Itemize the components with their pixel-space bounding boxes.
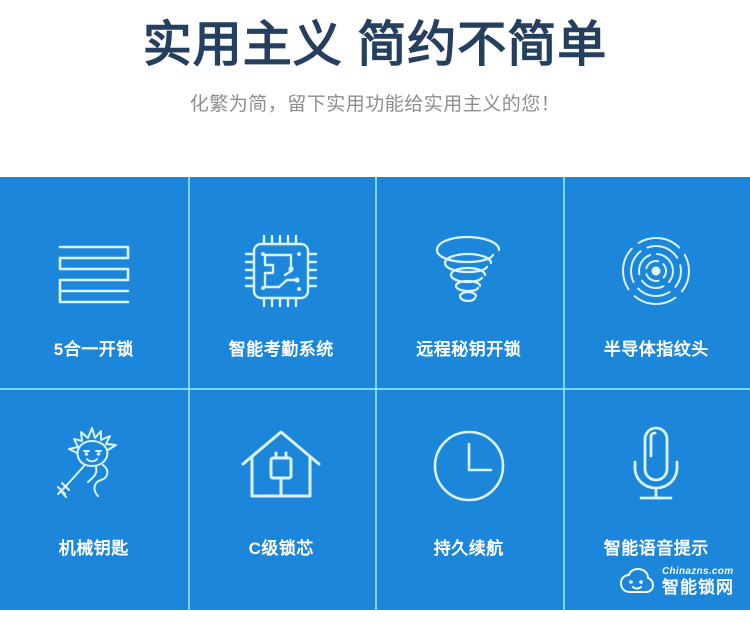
feature-cell-5-in-1-unlock[interactable]: 5合一开锁 bbox=[0, 177, 188, 390]
feature-label: 5合一开锁 bbox=[54, 339, 134, 361]
footer-strip bbox=[0, 610, 750, 624]
feature-cell-c-level-lock-cylinder[interactable]: C级锁芯 bbox=[188, 390, 376, 610]
feature-cell-mechanical-key[interactable]: 机械钥匙 bbox=[0, 390, 188, 610]
cloud-face-logo-icon bbox=[619, 568, 655, 596]
feature-label: 远程秘钥开锁 bbox=[416, 339, 521, 361]
feature-label: 智能考勤系统 bbox=[229, 339, 334, 361]
feature-label: 机械钥匙 bbox=[59, 538, 129, 560]
microphone-icon bbox=[608, 418, 704, 514]
feature-label: 智能语音提示 bbox=[604, 538, 709, 560]
feature-cell-semiconductor-fingerprint[interactable]: 半导体指纹头 bbox=[563, 177, 750, 390]
feature-label: 持久续航 bbox=[434, 538, 504, 560]
tornado-spiral-icon bbox=[421, 223, 517, 319]
watermark-name: 智能锁网 bbox=[662, 579, 734, 596]
clock-icon bbox=[421, 418, 517, 514]
feature-cell-remote-key-unlock[interactable]: 远程秘钥开锁 bbox=[375, 177, 563, 390]
feature-cell-long-battery-life[interactable]: 持久续航 bbox=[375, 390, 563, 610]
feature-cell-attendance-system[interactable]: 智能考勤系统 bbox=[188, 177, 376, 390]
house-lock-cylinder-icon bbox=[233, 418, 329, 514]
page-title: 实用主义 简约不简单 bbox=[0, 14, 750, 76]
dragon-key-icon bbox=[46, 418, 142, 514]
feature-label: 半导体指纹头 bbox=[604, 339, 709, 361]
feature-label: C级锁芯 bbox=[249, 538, 314, 560]
cpu-chip-icon bbox=[233, 223, 329, 319]
page-subtitle: 化繁为简，留下实用功能给实用主义的您！ bbox=[0, 92, 750, 118]
stacked-bars-icon bbox=[46, 223, 142, 319]
site-watermark: Chinazns.com 智能锁网 bbox=[619, 567, 734, 596]
fingerprint-rings-icon bbox=[608, 223, 704, 319]
page-header: 实用主义 简约不简单 化繁为简，留下实用功能给实用主义的您！ bbox=[0, 0, 750, 177]
watermark-domain: Chinazns.com bbox=[662, 567, 734, 577]
feature-grid: 5合一开锁 bbox=[0, 177, 750, 610]
